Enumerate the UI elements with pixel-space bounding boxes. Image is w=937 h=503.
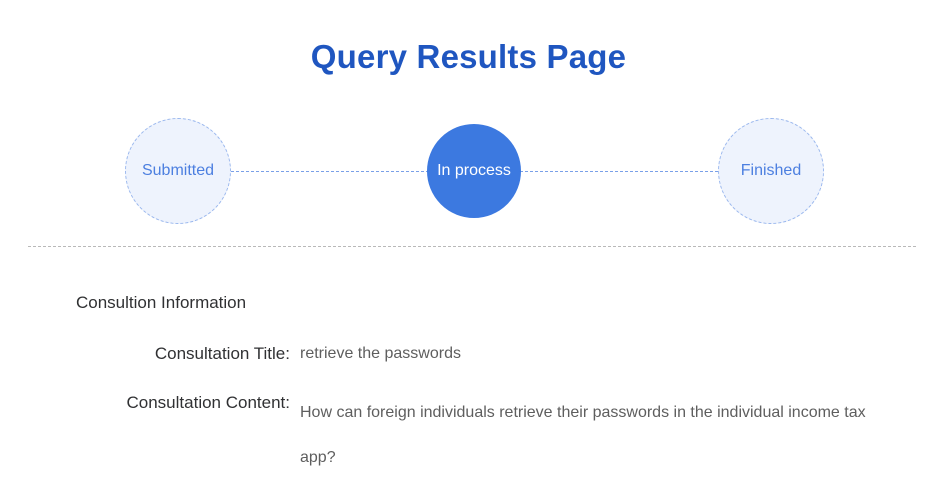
stepper-step-finished-label: Finished	[741, 162, 801, 180]
consultation-information-heading: Consultion Information	[76, 292, 246, 314]
stepper-connector-2	[520, 171, 723, 172]
consultation-title-value: retrieve the passwords	[300, 341, 461, 367]
consultation-title-label: Consultation Title:	[0, 341, 290, 367]
consultation-details: Consultation Title: retrieve the passwor…	[0, 341, 937, 503]
detail-row-consultation-content: Consultation Content: How can foreign in…	[0, 390, 937, 480]
stepper-step-in-process-label: In process	[437, 162, 511, 180]
stepper-connector-1	[226, 171, 429, 172]
status-stepper: Submitted In process Finished	[0, 116, 937, 228]
stepper-step-submitted[interactable]: Submitted	[125, 118, 231, 224]
stepper-step-in-process[interactable]: In process	[427, 124, 521, 218]
stepper-step-submitted-label: Submitted	[142, 162, 214, 180]
stepper-step-finished[interactable]: Finished	[718, 118, 824, 224]
consultation-content-label: Consultation Content:	[0, 390, 290, 416]
consultation-content-value: How can foreign individuals retrieve the…	[300, 390, 875, 480]
detail-row-consultation-title: Consultation Title: retrieve the passwor…	[0, 341, 937, 367]
page-title: Query Results Page	[0, 36, 937, 78]
section-divider	[28, 246, 916, 247]
